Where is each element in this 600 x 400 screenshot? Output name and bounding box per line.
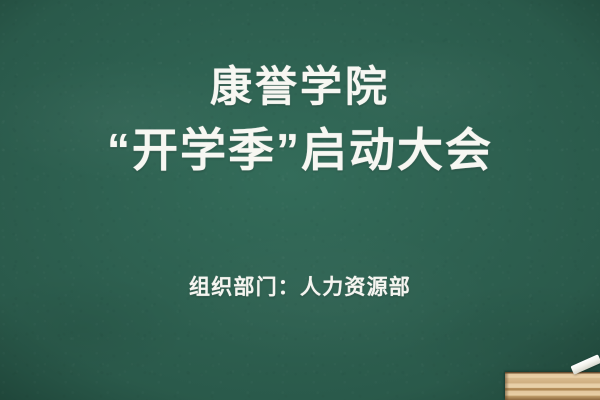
title-slide: 康誉学院 “开学季”启动大会 组织部门：人力资源部 — [0, 0, 600, 400]
title-line-secondary: “开学季”启动大会 — [0, 122, 600, 178]
chalkboard-vignette — [0, 0, 600, 400]
subtitle: 组织部门：人力资源部 — [0, 274, 600, 302]
page-title: 康誉学院 “开学季”启动大会 — [0, 62, 600, 178]
ledge-left-edge — [505, 372, 509, 400]
title-line-primary: 康誉学院 — [0, 62, 600, 112]
wooden-chalk-ledge — [505, 372, 600, 400]
chalkboard-grain-texture — [0, 0, 600, 400]
chalkboard-smudge-texture — [0, 0, 600, 400]
organizing-department-label: 组织部门：人力资源部 — [0, 274, 600, 302]
